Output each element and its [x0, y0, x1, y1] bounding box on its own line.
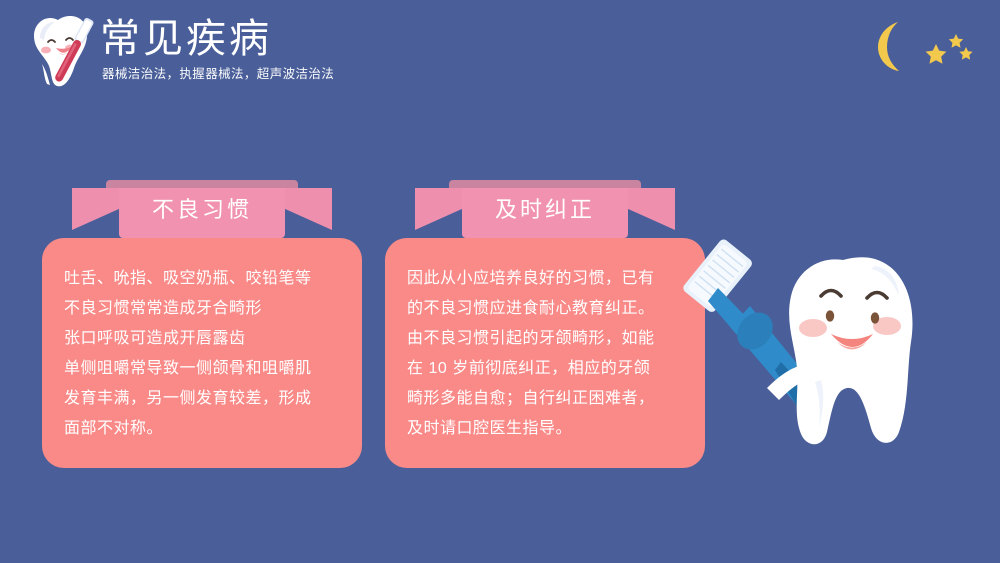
slide-canvas: 常见疾病 器械洁治法，执握器械法，超声波洁治法 不良习惯 — [0, 0, 1000, 563]
card-text-line: 畸形多能自愈；自行纠正困难者， — [407, 384, 683, 414]
ribbon-label-bad-habits: 不良习惯 — [72, 188, 332, 232]
ribbon-banner-bad-habits: 不良习惯 — [72, 178, 332, 240]
card-text-line: 及时请口腔医生指导。 — [407, 414, 683, 444]
ribbon-banner-timely-correction: 及时纠正 — [415, 178, 675, 240]
card-text-line: 张口呼吸可造成开唇露齿 — [64, 324, 340, 354]
ribbon-label-timely-correction: 及时纠正 — [415, 188, 675, 232]
tooth-character-with-toothbrush-icon — [655, 238, 985, 478]
card-text-line: 面部不对称。 — [64, 414, 340, 444]
card-text-line: 由不良习惯引起的牙颌畸形，如能 — [407, 324, 683, 354]
page-title: 常见疾病 — [100, 14, 334, 64]
card-text-line: 的不良习惯应进食耐心教育纠正。 — [407, 294, 683, 324]
card-text-line: 单侧咀嚼常导致一侧颌骨和咀嚼肌 — [64, 354, 340, 384]
card-text-line: 不良习惯常常造成牙合畸形 — [64, 294, 340, 324]
card-text-line: 因此从小应培养良好的习惯，已有 — [407, 264, 683, 294]
card-text-line: 发育丰满，另一侧发育较差，形成 — [64, 384, 340, 414]
logo-tooth-with-toothbrush-icon — [14, 8, 98, 96]
slide-header: 常见疾病 器械洁治法，执握器械法，超声波洁治法 — [0, 0, 1000, 108]
card-text-line: 吐舌、吮指、吸空奶瓶、咬铅笔等 — [64, 264, 340, 294]
page-subtitle: 器械洁治法，执握器械法，超声波洁治法 — [102, 66, 334, 82]
crescent-moon-icon — [878, 22, 899, 71]
moon-and-stars-decoration — [852, 14, 982, 76]
star-icon — [926, 34, 973, 64]
tooth-body — [789, 257, 912, 444]
card-bad-habits: 吐舌、吮指、吸空奶瓶、咬铅笔等 不良习惯常常造成牙合畸形 张口呼吸可造成开唇露齿… — [42, 238, 362, 468]
header-title-block: 常见疾病 器械洁治法，执握器械法，超声波洁治法 — [100, 14, 334, 82]
column-bad-habits: 不良习惯 吐舌、吮指、吸空奶瓶、咬铅笔等 不良习惯常常造成牙合畸形 张口呼吸可造… — [42, 178, 362, 468]
card-text-line: 在 10 岁前彻底纠正，相应的牙颌 — [407, 354, 683, 384]
